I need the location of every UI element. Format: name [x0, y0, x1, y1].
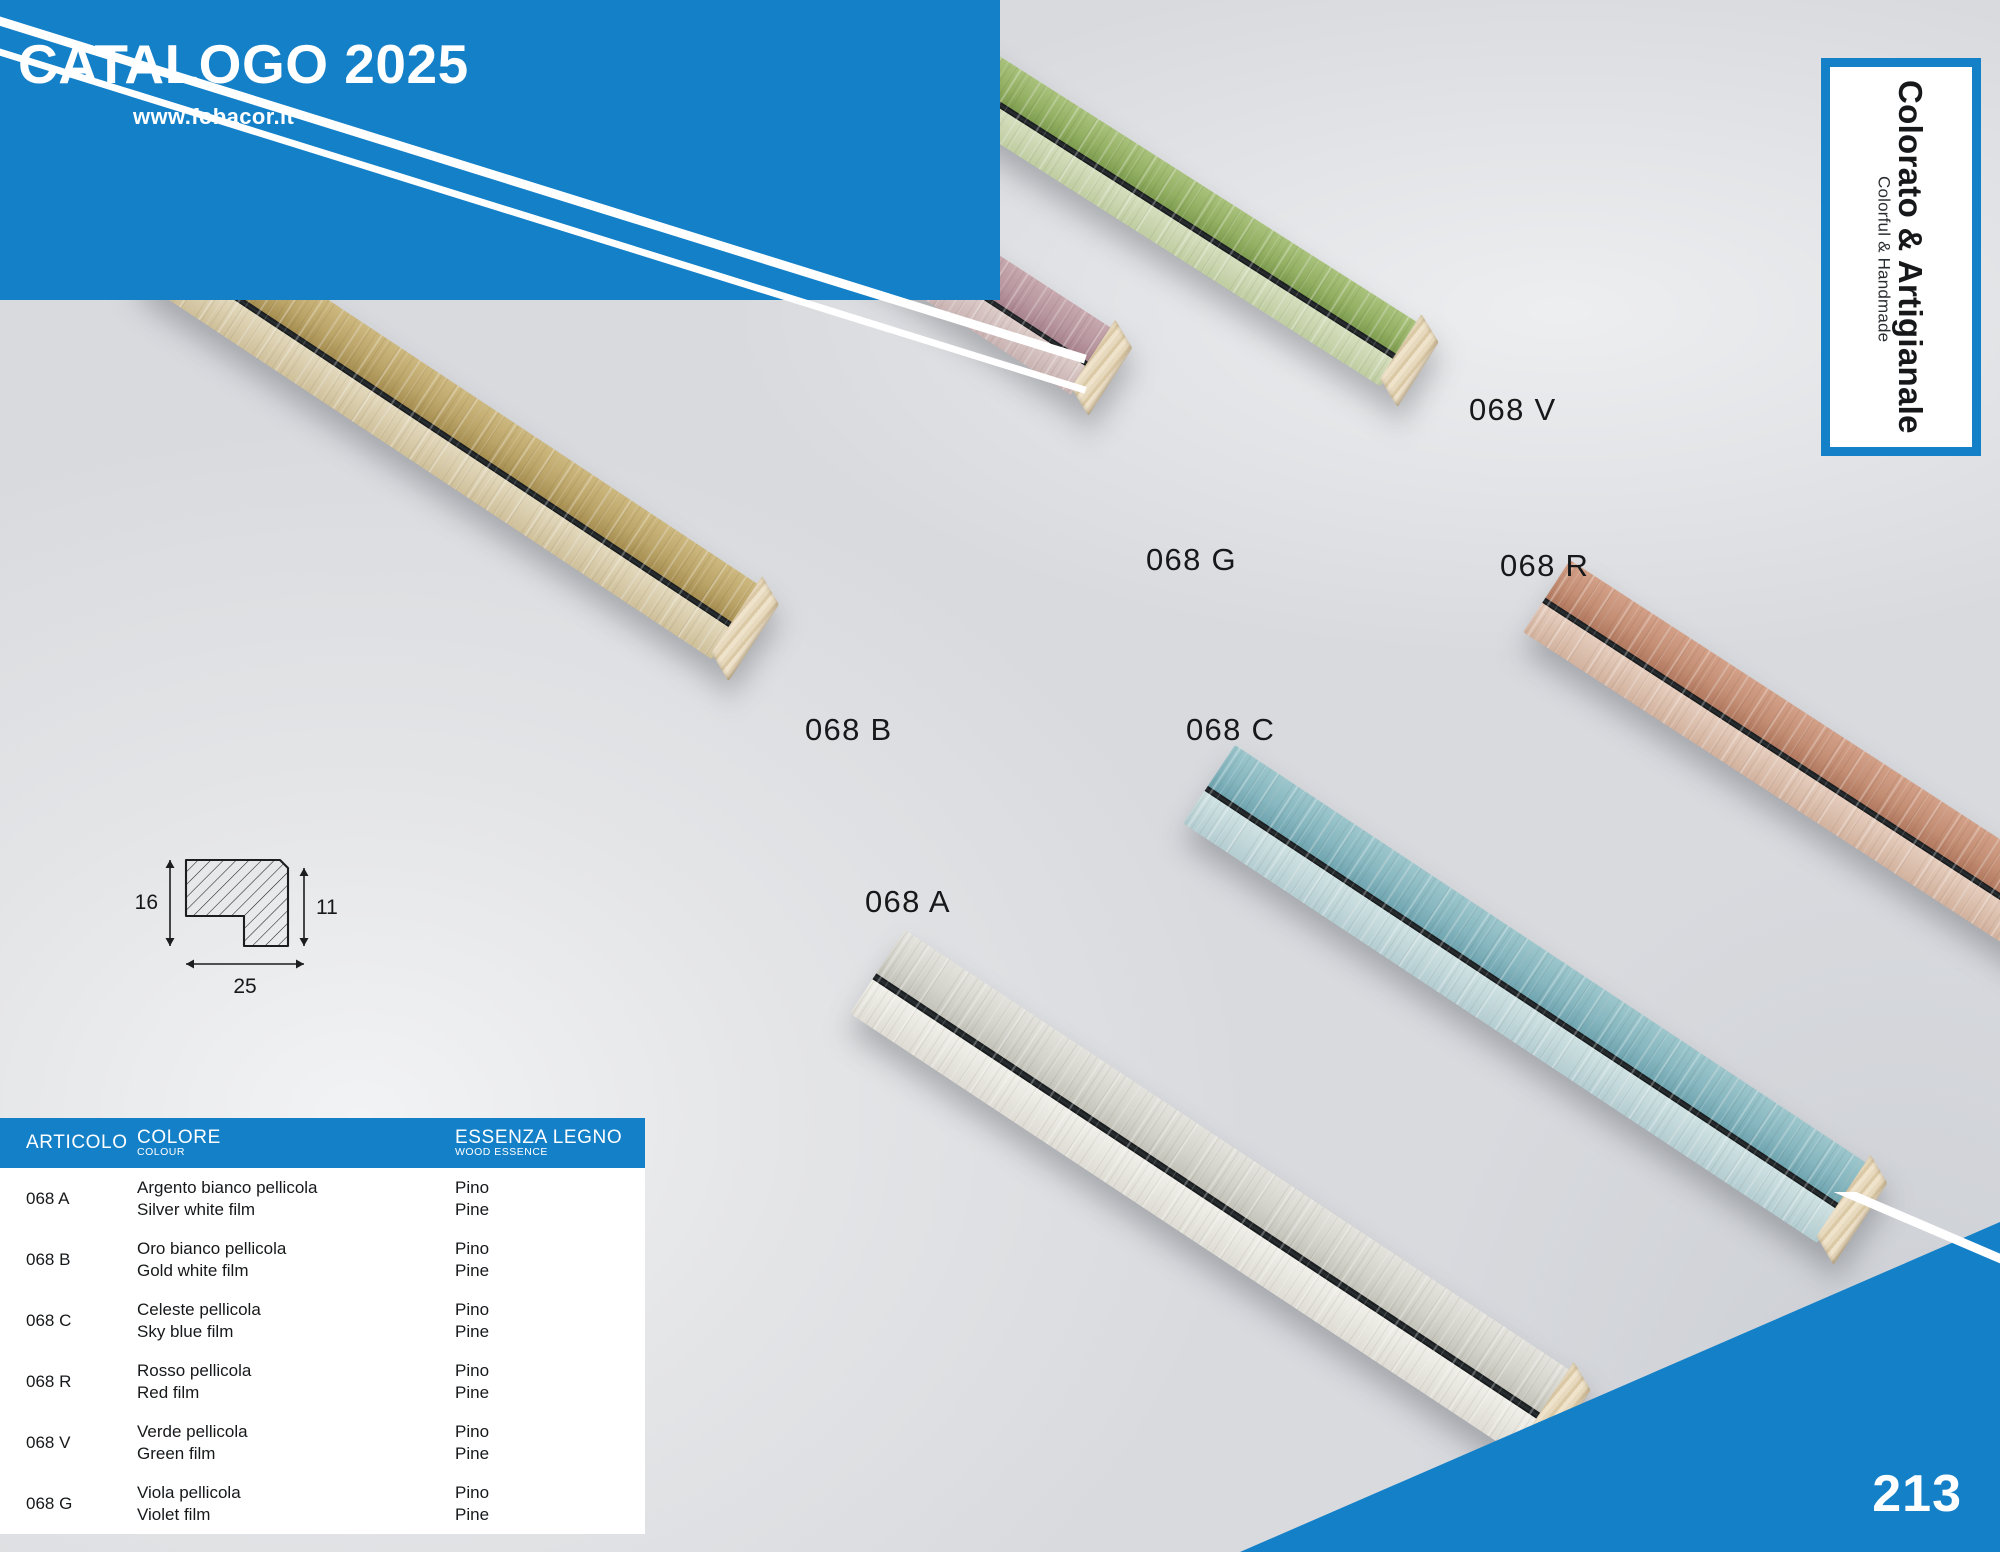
- cell-essenza-it: Pino: [455, 1299, 645, 1321]
- cell-colore-it: Rosso pellicola: [137, 1360, 455, 1382]
- cell-essenza: Pino Pine: [455, 1421, 645, 1465]
- table-header-row: ARTICOLO COLORE COLOUR ESSENZA LEGNO WOO…: [0, 1118, 645, 1168]
- header-articolo-it: ARTICOLO: [26, 1133, 135, 1152]
- header-colore-it: COLORE: [137, 1128, 455, 1147]
- profile-outline: [186, 860, 288, 946]
- catalog-title: CATALOGO 2025: [18, 32, 469, 96]
- cell-colore-it: Argento bianco pellicola: [137, 1177, 455, 1199]
- cell-essenza-en: Pine: [455, 1504, 645, 1526]
- cell-essenza-en: Pine: [455, 1382, 645, 1404]
- cell-articolo: 068 B: [0, 1250, 135, 1270]
- category-badge-text-group: Colorato & Artigianale Colorful & Handma…: [1875, 80, 1927, 434]
- cell-essenza-it: Pino: [455, 1421, 645, 1443]
- category-badge: Colorato & Artigianale Colorful & Handma…: [1821, 58, 1981, 456]
- table-row: 068 B Oro bianco pellicola Gold white fi…: [0, 1229, 645, 1290]
- cell-articolo: 068 V: [0, 1433, 135, 1453]
- cell-articolo: 068 C: [0, 1311, 135, 1331]
- cell-colore: Verde pellicola Green film: [135, 1421, 455, 1465]
- table-row: 068 R Rosso pellicola Red film Pino Pine: [0, 1351, 645, 1412]
- cell-essenza-it: Pino: [455, 1177, 645, 1199]
- category-title-it: Colorato & Artigianale: [1893, 80, 1928, 434]
- cell-colore-en: Green film: [137, 1443, 455, 1465]
- cell-essenza-en: Pine: [455, 1443, 645, 1465]
- table-header-articolo: ARTICOLO: [0, 1133, 135, 1152]
- cell-colore-it: Viola pellicola: [137, 1482, 455, 1504]
- sample-label-068-A: 068 A: [865, 884, 951, 920]
- profile-cross-section-diagram: 16 11 25: [118, 838, 408, 1008]
- cell-essenza: Pino Pine: [455, 1238, 645, 1282]
- header-essenza-en: WOOD ESSENCE: [455, 1147, 645, 1159]
- table-row: 068 V Verde pellicola Green film Pino Pi…: [0, 1412, 645, 1473]
- cell-articolo: 068 G: [0, 1494, 135, 1514]
- category-title-en: Colorful & Handmade: [1875, 85, 1893, 434]
- header-essenza-it: ESSENZA LEGNO: [455, 1128, 645, 1147]
- cell-colore: Viola pellicola Violet film: [135, 1482, 455, 1526]
- cell-essenza-it: Pino: [455, 1360, 645, 1382]
- table-row: 068 C Celeste pellicola Sky blue film Pi…: [0, 1290, 645, 1351]
- cell-essenza-en: Pine: [455, 1321, 645, 1343]
- sample-label-068-V: 068 V: [1469, 392, 1557, 428]
- sample-label-068-C: 068 C: [1186, 712, 1275, 748]
- specification-table: ARTICOLO COLORE COLOUR ESSENZA LEGNO WOO…: [0, 1118, 645, 1534]
- cell-articolo: 068 A: [0, 1189, 135, 1209]
- cell-colore-it: Verde pellicola: [137, 1421, 455, 1443]
- header-colore-en: COLOUR: [137, 1147, 455, 1159]
- cell-colore-en: Gold white film: [137, 1260, 455, 1282]
- cell-essenza: Pino Pine: [455, 1482, 645, 1526]
- cell-colore-it: Oro bianco pellicola: [137, 1238, 455, 1260]
- cell-colore: Argento bianco pellicola Silver white fi…: [135, 1177, 455, 1221]
- sample-label-068-B: 068 B: [805, 712, 893, 748]
- catalog-website-url[interactable]: www.fobacor.it: [133, 104, 294, 130]
- table-header-essenza: ESSENZA LEGNO WOOD ESSENCE: [455, 1128, 645, 1159]
- profile-diagram-svg: 16 11 25: [118, 838, 408, 1008]
- profile-rabbet-label: 11: [316, 896, 338, 919]
- cell-articolo: 068 R: [0, 1372, 135, 1392]
- table-header-colore: COLORE COLOUR: [135, 1128, 455, 1159]
- sample-label-068-R: 068 R: [1500, 548, 1589, 584]
- cell-colore: Oro bianco pellicola Gold white film: [135, 1238, 455, 1282]
- cell-colore-en: Silver white film: [137, 1199, 455, 1221]
- cell-essenza: Pino Pine: [455, 1299, 645, 1343]
- cell-essenza-it: Pino: [455, 1238, 645, 1260]
- cell-colore: Rosso pellicola Red film: [135, 1360, 455, 1404]
- cell-colore-en: Violet film: [137, 1504, 455, 1526]
- cell-colore-it: Celeste pellicola: [137, 1299, 455, 1321]
- table-row: 068 A Argento bianco pellicola Silver wh…: [0, 1168, 645, 1229]
- cell-colore: Celeste pellicola Sky blue film: [135, 1299, 455, 1343]
- profile-height-label: 16: [135, 891, 158, 914]
- page-number: 213: [1872, 1464, 1962, 1524]
- cell-essenza: Pino Pine: [455, 1360, 645, 1404]
- table-row: 068 G Viola pellicola Violet film Pino P…: [0, 1473, 645, 1534]
- cell-essenza-it: Pino: [455, 1482, 645, 1504]
- cell-colore-en: Red film: [137, 1382, 455, 1404]
- cell-essenza-en: Pine: [455, 1260, 645, 1282]
- cell-essenza-en: Pine: [455, 1199, 645, 1221]
- sample-label-068-G: 068 G: [1146, 542, 1237, 578]
- profile-width-label: 25: [233, 975, 256, 998]
- cell-colore-en: Sky blue film: [137, 1321, 455, 1343]
- cell-essenza: Pino Pine: [455, 1177, 645, 1221]
